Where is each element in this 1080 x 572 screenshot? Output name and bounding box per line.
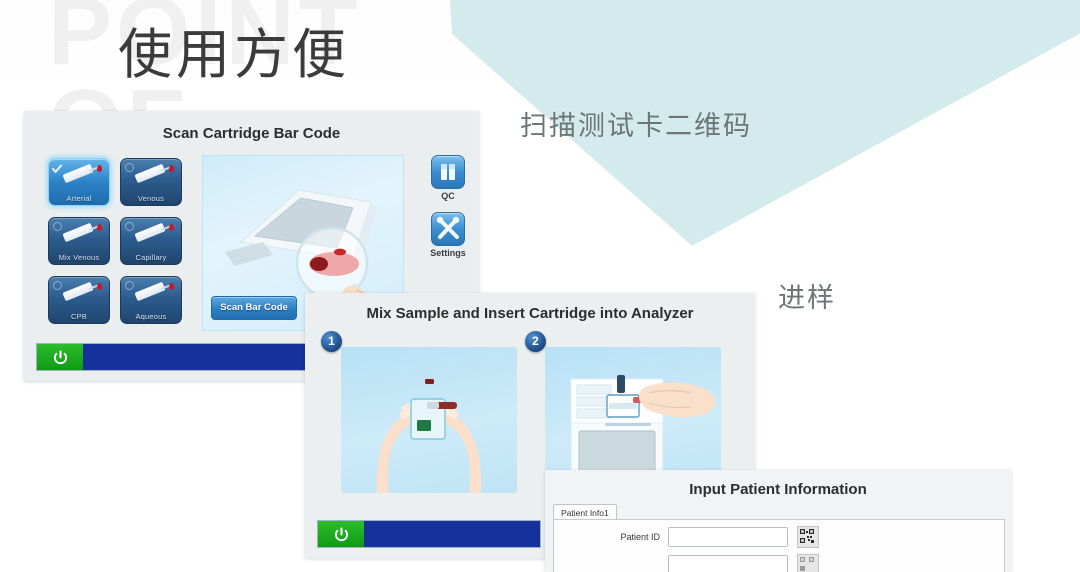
form-row-patient-id: Patient ID — [554, 524, 1004, 550]
patient-id-label: Patient ID — [554, 532, 668, 542]
panel1-title: Scan Cartridge Bar Code — [24, 125, 479, 142]
radio-icon — [53, 222, 62, 231]
power-icon — [52, 349, 69, 366]
sample-button-venous[interactable]: Venous — [120, 158, 182, 206]
power-button[interactable] — [318, 521, 364, 547]
radio-icon — [53, 281, 62, 290]
blood-drop-icon — [169, 283, 174, 290]
qc-icon — [431, 155, 465, 189]
power-button[interactable] — [37, 344, 83, 370]
qr-code-icon[interactable] — [797, 554, 819, 572]
syringe-icon — [134, 282, 165, 302]
syringe-icon — [62, 164, 93, 184]
patient-id-input[interactable] — [668, 527, 788, 547]
blood-drop-icon — [97, 165, 102, 172]
patient-info-tabstrip: Patient Info1 — [553, 503, 617, 520]
form-row-secondary — [554, 552, 1004, 572]
panel1-tool-column: QC Settings — [422, 155, 474, 269]
scan-bar-code-button[interactable]: Scan Bar Code — [211, 296, 297, 320]
radio-icon — [125, 163, 134, 172]
panel-input-patient-information: Input Patient Information Patient Info1 … — [545, 470, 1011, 572]
page-title: 使用方便 — [118, 24, 350, 86]
radio-icon — [125, 281, 134, 290]
panel3-title: Input Patient Information — [545, 481, 1011, 498]
check-icon — [52, 161, 62, 171]
step-number-badge: 1 — [321, 331, 342, 352]
syringe-icon — [134, 164, 165, 184]
sample-button-mix-venous[interactable]: Mix Venous — [48, 217, 110, 265]
patient-form: Patient ID — [553, 519, 1005, 572]
sample-button-label: Aqueous — [121, 312, 181, 321]
tool-qc[interactable]: QC — [422, 155, 474, 201]
wrench-screwdriver-icon — [431, 212, 465, 246]
syringe-icon — [134, 223, 165, 243]
sample-button-label: Capillary — [121, 253, 181, 262]
syringe-icon — [62, 223, 93, 243]
power-icon — [333, 526, 350, 543]
sample-button-label: CPB — [49, 312, 109, 321]
syringe-icon — [62, 282, 93, 302]
slide-canvas: POINT OF 使用方便 扫描测试卡二维码 进样 Scan Cartridge… — [0, 0, 1080, 572]
blood-drop-icon — [169, 224, 174, 231]
qr-code-icon[interactable] — [797, 526, 819, 548]
sample-button-cpb[interactable]: CPB — [48, 276, 110, 324]
panel2-status-bar — [317, 520, 541, 548]
hands-mixing-cartridge-graphic — [341, 347, 517, 493]
sample-button-label: Arterial — [49, 194, 109, 203]
step1-illustration — [341, 347, 517, 493]
blood-drop-icon — [169, 165, 174, 172]
sample-button-label: Venous — [121, 194, 181, 203]
sample-button-aqueous[interactable]: Aqueous — [120, 276, 182, 324]
sample-button-label: Mix Venous — [49, 253, 109, 262]
tool-label: Settings — [422, 248, 474, 258]
panel2-title: Mix Sample and Insert Cartridge into Ana… — [305, 305, 755, 322]
tool-label: QC — [422, 191, 474, 201]
blood-drop-icon — [97, 283, 102, 290]
annotation-inject-sample: 进样 — [778, 276, 836, 315]
radio-icon — [125, 222, 134, 231]
sample-type-grid: Arterial Venous Mix Venous — [48, 158, 188, 328]
tool-settings[interactable]: Settings — [422, 212, 474, 258]
step-number-badge: 2 — [525, 331, 546, 352]
blood-drop-icon — [97, 224, 102, 231]
sample-button-capillary[interactable]: Capillary — [120, 217, 182, 265]
sample-button-arterial[interactable]: Arterial — [48, 158, 110, 206]
secondary-field-input[interactable] — [668, 555, 788, 572]
annotation-scan-qr: 扫描测试卡二维码 — [520, 104, 752, 143]
